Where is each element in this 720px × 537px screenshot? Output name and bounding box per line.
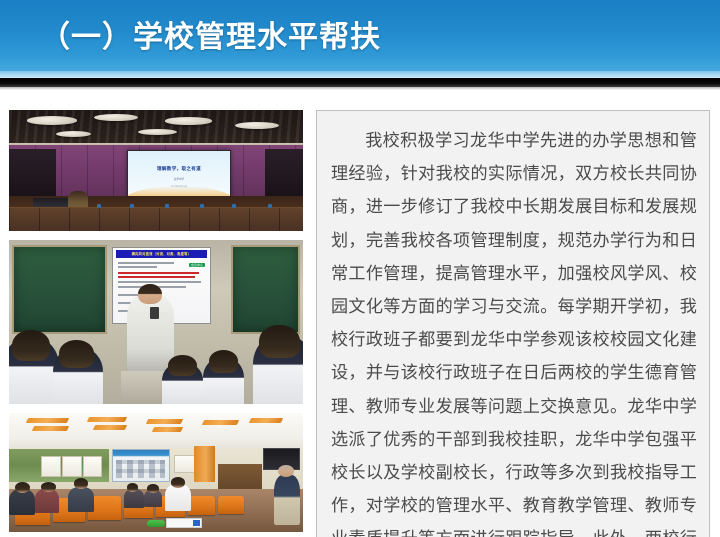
orange-pillar [194, 446, 215, 482]
page-title: （一）学校管理水平帮扶 [40, 19, 381, 57]
desk-microphone [130, 204, 134, 208]
ceiling-accent-strip [25, 418, 69, 423]
attendee-head [41, 482, 56, 492]
attendee [124, 489, 145, 508]
projected-board-title: 横向风对直流（对流、对角、角度等） [116, 250, 207, 258]
classroom-scene: 横向风对直流（对流、对角、角度等） 合议中心 [9, 240, 303, 404]
ceiling-accent-strip [202, 420, 240, 425]
desk-microphone [268, 204, 272, 208]
ceiling-accent-strip [87, 417, 128, 422]
teacher-desk [121, 371, 168, 404]
chalkboard-right [231, 245, 300, 334]
presenter [274, 475, 300, 525]
information-display-board [112, 449, 170, 482]
watermark-blue-square [193, 520, 200, 526]
screen-text-line [118, 262, 174, 264]
front-desk [9, 207, 303, 231]
handheld-microphone [150, 307, 159, 318]
podium [218, 464, 262, 490]
screen-text-line [118, 281, 201, 283]
meeting-room-photo [9, 413, 303, 532]
ceiling-accent-strip [93, 425, 128, 430]
presentation-slide: （一）学校管理水平帮扶 理解教学，取之有道 龙华中学 2017年11月22日 [0, 0, 720, 537]
auditorium-lecture-photo: 理解教学，取之有道 龙华中学 2017年11月22日 [9, 110, 303, 231]
projected-slide-subtitle: 龙华中学 [128, 177, 231, 181]
student-head [59, 340, 94, 368]
desk-microphone [232, 204, 236, 208]
attendee-head [15, 482, 30, 493]
ceiling-light [56, 131, 91, 137]
wall-poster [62, 456, 82, 477]
attendee [144, 490, 162, 507]
desk-microphone [97, 204, 101, 208]
ceiling-accent-strip [249, 418, 284, 423]
classroom-teaching-photo: 横向风对直流（对流、对角、角度等） 合议中心 [9, 240, 303, 404]
screen-text-line [118, 294, 139, 296]
chalkboard-left [12, 245, 107, 334]
photo-watermark [147, 518, 202, 528]
ceiling-light [165, 117, 212, 124]
ceiling-light [27, 116, 77, 124]
stage-side-dark-right [265, 149, 303, 197]
ceiling-accent-strip [152, 427, 184, 432]
ceiling-accent-strip [146, 419, 184, 424]
screen-green-tag: 合议中心 [189, 263, 205, 267]
attendee-head [127, 483, 139, 491]
auditorium-scene: 理解教学，取之有道 龙华中学 2017年11月22日 [9, 110, 303, 231]
watermark-green-pill [147, 520, 165, 527]
projection-screen: 理解教学，取之有道 龙华中学 2017年11月22日 [127, 150, 232, 198]
projected-slide-title: 理解教学，取之有道 [128, 166, 231, 172]
screen-text-line-highlight [118, 272, 199, 274]
header-dark-strip [0, 78, 720, 87]
attendee [35, 489, 59, 513]
seat [218, 496, 244, 514]
student-head [259, 325, 300, 358]
attendee [165, 484, 191, 510]
screen-text-line-highlight [118, 276, 196, 278]
ceiling-light [94, 114, 138, 121]
wall-poster [83, 456, 103, 477]
header-shadow-strip [0, 87, 720, 90]
body-paragraph: 我校积极学习龙华中学先进的办学思想和管理经验，针对我校的实际情况，双方校长共同协… [317, 111, 709, 537]
body-text-panel: 我校积极学习龙华中学先进的办学思想和管理经验，针对我校的实际情况，双方校长共同协… [316, 110, 710, 537]
header-light-strip [0, 71, 720, 78]
ceiling-accent-strip [31, 426, 69, 431]
screen-text-line [118, 266, 157, 268]
desk-microphone [165, 204, 169, 208]
student-head [12, 330, 50, 361]
desk-microphone [200, 204, 204, 208]
stage-side-dark-left [9, 149, 56, 197]
attendee-head [147, 484, 159, 492]
projected-slide-footer: 2017年11月22日 [128, 184, 231, 188]
seat [188, 496, 214, 515]
student-head [168, 355, 197, 376]
student-head [209, 350, 238, 373]
watermark-white-bar [166, 518, 202, 528]
attendee [9, 489, 35, 515]
teacher-head [138, 284, 162, 304]
meeting-room-scene [9, 413, 303, 532]
attendee [68, 487, 94, 512]
wall-poster [41, 456, 61, 477]
